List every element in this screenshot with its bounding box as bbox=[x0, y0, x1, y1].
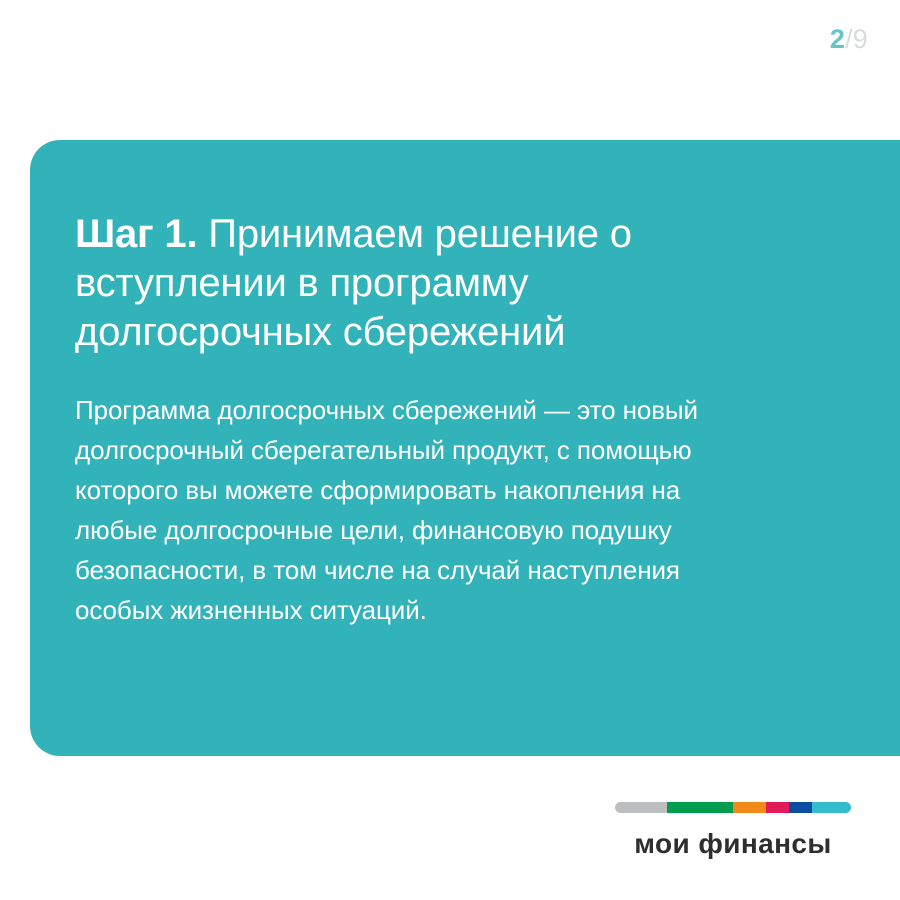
page-counter-total: 9 bbox=[853, 24, 868, 54]
slide-root: 2/9 Шаг 1. Принимаем решение о вступлени… bbox=[0, 0, 900, 900]
logo-bar-segment-magenta bbox=[766, 802, 789, 813]
body-paragraph: Программа долгосрочных сбережений — это … bbox=[75, 390, 765, 630]
card-content: Шаг 1. Принимаем решение о вступлении в … bbox=[75, 210, 765, 630]
page-counter-current: 2 bbox=[830, 24, 845, 54]
logo-bar-segment-orange bbox=[733, 802, 766, 813]
page-counter-separator: / bbox=[845, 24, 853, 54]
logo-bar-segment-cyan bbox=[812, 802, 851, 813]
step-label: Шаг 1. bbox=[75, 212, 197, 256]
logo-color-bar bbox=[615, 802, 851, 813]
logo-bar-segment-gray bbox=[615, 802, 667, 813]
content-card: Шаг 1. Принимаем решение о вступлении в … bbox=[30, 140, 900, 756]
logo-bar-segment-blue bbox=[789, 802, 812, 813]
page-title: Шаг 1. Принимаем решение о вступлении в … bbox=[75, 210, 755, 357]
logo-bar-segment-green bbox=[667, 802, 733, 813]
page-counter: 2/9 bbox=[830, 26, 868, 53]
logo-wordmark: мои финансы bbox=[634, 830, 831, 858]
brand-logo: мои финансы bbox=[610, 802, 856, 858]
